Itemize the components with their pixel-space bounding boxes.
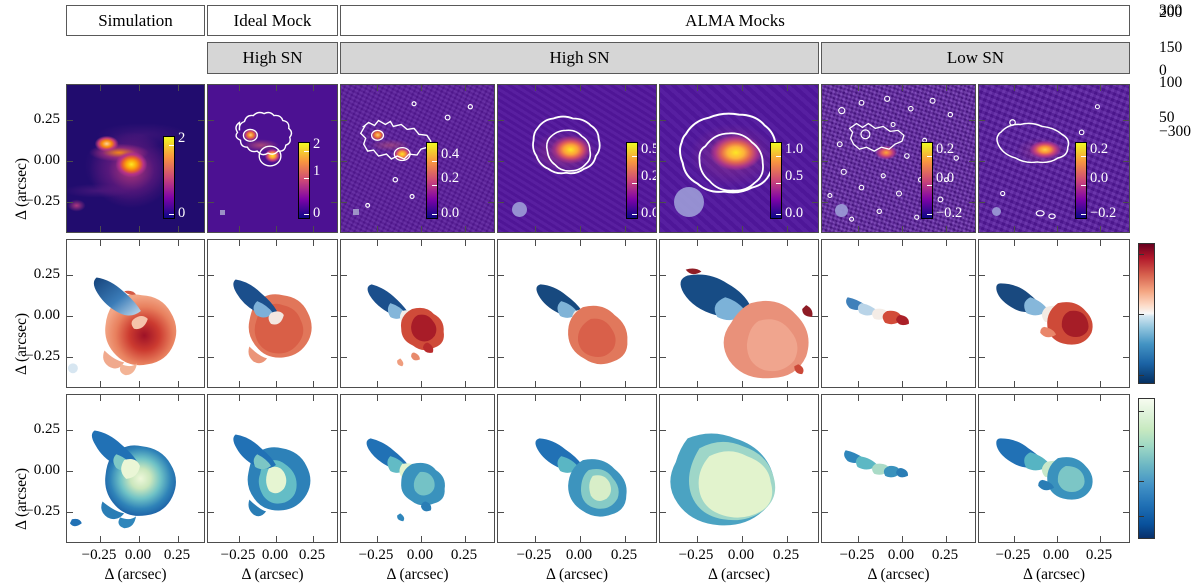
header-ideal-mock: Ideal Mock <box>207 5 338 36</box>
x-axis-label-c5: Δ (arcsec) <box>659 566 819 584</box>
panel-dispersion-simulation <box>66 394 205 543</box>
dispersion-colorbar-tick-100: 100 <box>1159 74 1182 92</box>
dispersion-map-simulation <box>67 395 204 542</box>
dispersion-map-alma-4 <box>822 395 975 542</box>
dispersion-map-alma-3 <box>660 395 818 542</box>
header-alma-low-sn: Low SN <box>821 42 1130 74</box>
panel-velocity-alma-1 <box>340 239 495 388</box>
panel-velocity-simulation <box>66 239 205 388</box>
flux-colorbar-3-tick-2: 0.4 <box>441 146 459 163</box>
velocity-map-alma-4 <box>822 240 975 387</box>
dispersion-colorbar-tick-50: 50 <box>1159 109 1175 127</box>
x-tick-c3-025: 0.25 <box>434 547 494 564</box>
flux-colorbar-2-tick-1: 1 <box>313 163 320 180</box>
header-simulation-label: Simulation <box>98 11 173 31</box>
beam-marker-3 <box>353 209 359 215</box>
velocity-map-simulation <box>67 240 204 387</box>
panel-velocity-alma-2 <box>497 239 657 388</box>
panel-flux-simulation: 2 0 <box>66 84 205 233</box>
dispersion-colorbar-tick-200: 200 <box>1159 4 1182 22</box>
panel-dispersion-alma-2 <box>497 394 657 543</box>
flux-colorbar-4-tick-0: 0.00 <box>641 205 657 222</box>
flux-colorbar-3 <box>426 142 438 219</box>
panel-flux-ideal-mock: 2 1 0 <box>207 84 338 233</box>
dispersion-colorbar <box>1138 398 1155 539</box>
x-tick-c5-025: 0.25 <box>756 547 816 564</box>
y-axis-label-row2: Δ (arcsec) <box>13 255 31 375</box>
panel-flux-alma-1: 0.4 0.2 0.0 <box>340 84 495 233</box>
flux-colorbar-7-tick-2: 0.2 <box>1090 141 1108 158</box>
flux-colorbar-7-tick-0: −0.2 <box>1090 205 1116 222</box>
header-alma-mocks-label: ALMA Mocks <box>685 11 785 31</box>
header-ideal-mock-label: Ideal Mock <box>234 11 312 31</box>
header-ideal-high-sn-label: High SN <box>243 48 303 68</box>
flux-colorbar-7-tick-1: 0.0 <box>1090 170 1108 187</box>
flux-colorbar-5-tick-0: 0.0 <box>785 205 803 222</box>
dispersion-map-alma-2 <box>498 395 656 542</box>
x-tick-c2-025: 0.25 <box>282 547 342 564</box>
x-axis-label-c3: Δ (arcsec) <box>340 566 495 584</box>
flux-colorbar-1-tick-lo: 0 <box>178 205 185 222</box>
panel-velocity-alma-3 <box>659 239 819 388</box>
header-alma-high-sn-label: High SN <box>550 48 610 68</box>
flux-colorbar-5-tick-2: 1.0 <box>785 141 803 158</box>
x-tick-c6-025: 0.25 <box>915 547 975 564</box>
y-axis-label-row3: Δ (arcsec) <box>13 410 31 530</box>
x-axis-label-c7: Δ (arcsec) <box>978 566 1130 584</box>
panel-flux-alma-2: 0.50 0.25 0.00 <box>497 84 657 233</box>
x-tick-c7-025: 0.25 <box>1069 547 1129 564</box>
panel-dispersion-alma-1 <box>340 394 495 543</box>
panel-flux-alma-3: 1.0 0.5 0.0 <box>659 84 819 233</box>
flux-colorbar-6-tick-0: −0.2 <box>936 205 962 222</box>
flux-colorbar-3-tick-0: 0.0 <box>441 205 459 222</box>
flux-colorbar-2-tick-0: 0 <box>313 205 320 222</box>
panel-flux-alma-5: 0.2 0.0 −0.2 <box>978 84 1130 233</box>
velocity-map-alma-3 <box>660 240 818 387</box>
flux-colorbar-1 <box>163 136 175 219</box>
flux-colorbar-4-tick-1: 0.25 <box>641 168 657 185</box>
panel-dispersion-alma-5 <box>978 394 1130 543</box>
figure-root: Simulation Ideal Mock ALMA Mocks High SN… <box>0 0 1200 584</box>
flux-colorbar-5 <box>770 142 782 219</box>
dispersion-map-ideal-mock <box>208 395 337 542</box>
beam-marker-7 <box>992 207 1001 216</box>
flux-colorbar-5-tick-1: 0.5 <box>785 168 803 185</box>
dispersion-colorbar-tick-150: 150 <box>1159 39 1182 57</box>
dispersion-map-alma-1 <box>341 395 494 542</box>
velocity-map-ideal-mock <box>208 240 337 387</box>
flux-map-alma-1 <box>341 85 494 232</box>
flux-colorbar-6 <box>921 142 933 219</box>
panel-dispersion-alma-3 <box>659 394 819 543</box>
flux-colorbar-4 <box>626 142 638 219</box>
header-simulation: Simulation <box>66 5 205 36</box>
panel-dispersion-ideal-mock <box>207 394 338 543</box>
x-tick-c1-025: 0.25 <box>147 547 207 564</box>
dispersion-map-alma-5 <box>979 395 1129 542</box>
beam-marker-2 <box>220 210 225 215</box>
flux-colorbar-2 <box>298 142 310 219</box>
velocity-map-alma-1 <box>341 240 494 387</box>
x-axis-label-c6: Δ (arcsec) <box>821 566 976 584</box>
flux-colorbar-6-tick-2: 0.2 <box>936 141 954 158</box>
beam-marker-5 <box>674 187 704 217</box>
header-alma-low-sn-label: Low SN <box>947 48 1004 68</box>
x-axis-label-c2: Δ (arcsec) <box>207 566 338 584</box>
panel-flux-alma-4: 0.2 0.0 −0.2 <box>821 84 976 233</box>
flux-colorbar-4-tick-2: 0.50 <box>641 141 657 158</box>
flux-colorbar-3-tick-1: 0.2 <box>441 170 459 187</box>
velocity-colorbar <box>1138 243 1155 384</box>
velocity-map-alma-2 <box>498 240 656 387</box>
panel-velocity-alma-4 <box>821 239 976 388</box>
flux-colorbar-2-tick-2: 2 <box>313 136 320 153</box>
flux-colorbar-7 <box>1075 142 1087 219</box>
header-alma-mocks: ALMA Mocks <box>340 5 1130 36</box>
x-axis-label-c1: Δ (arcsec) <box>66 566 205 584</box>
x-axis-label-c4: Δ (arcsec) <box>497 566 657 584</box>
header-alma-high-sn: High SN <box>340 42 819 74</box>
panel-dispersion-alma-4 <box>821 394 976 543</box>
x-tick-c4-025: 0.25 <box>594 547 654 564</box>
beam-marker-4 <box>512 202 527 217</box>
panel-velocity-ideal-mock <box>207 239 338 388</box>
beam-marker-6 <box>835 204 848 217</box>
panel-velocity-alma-5 <box>978 239 1130 388</box>
velocity-map-alma-5 <box>979 240 1129 387</box>
header-ideal-high-sn: High SN <box>207 42 338 74</box>
flux-colorbar-1-tick-hi: 2 <box>178 130 185 147</box>
flux-colorbar-6-tick-1: 0.0 <box>936 170 954 187</box>
y-axis-label-row1: Δ (arcsec) <box>13 100 31 220</box>
